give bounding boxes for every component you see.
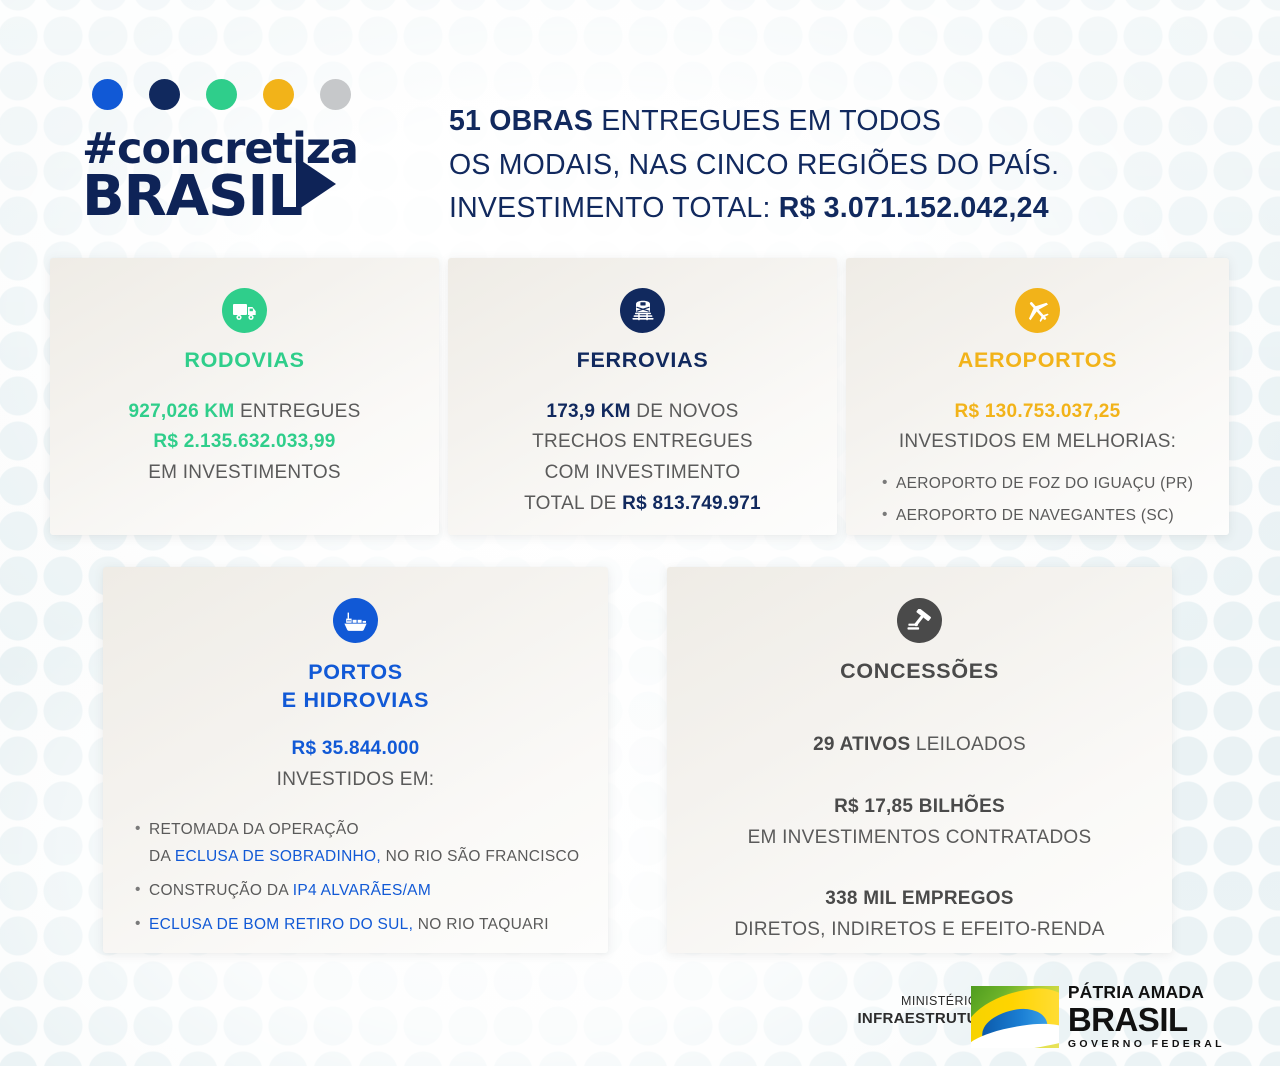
concessoes-ativos-value: 29 ATIVOS [813,734,910,755]
ferrovias-total-value: R$ 813.749.971 [622,493,761,514]
portos-bullet-list: RETOMADA DA OPERAÇÃO DA ECLUSA DE SOBRAD… [135,820,608,937]
aeroportos-investment-value: R$ 130.753.037,25 [846,397,1229,428]
list-item: CONSTRUÇÃO DA IP4 ALVARÃES/AM [135,881,608,902]
list-item-continuation: DA ECLUSA DE SOBRADINHO, NO RIO SÃO FRAN… [135,847,608,868]
aeroportos-bullet-list: AEROPORTO DE FOZ DO IGUAÇU (PR) AEROPORT… [882,474,1229,527]
portos-investment-value: R$ 35.844.000 [103,734,608,765]
dot-navy-icon [149,79,180,110]
headline-line-1: 51 OBRAS ENTREGUES EM TODOS [449,100,1239,144]
rodovias-investment-value: R$ 2.135.632.033,99 [50,427,439,458]
list-item: RETOMADA DA OPERAÇÃO [135,820,608,841]
dot-green-icon [206,79,237,110]
portos-b3-hl: IP4 ALVARÃES/AM [293,882,431,899]
concessoes-stat-1: 29 ATIVOS LEILOADOS [667,730,1172,761]
aeroportos-investment-label: INVESTIDOS EM MELHORIAS: [846,427,1229,458]
portos-b2-hl: ECLUSA DE SOBRADINHO, [175,848,381,865]
card-portos-hidrovias[interactable]: PORTOS E HIDROVIAS R$ 35.844.000 INVESTI… [103,567,608,953]
ferrovias-km-value: 173,9 KM [546,401,630,422]
play-arrow-icon [296,157,336,211]
gov-line-2: BRASIL [1068,1003,1225,1036]
ship-icon [333,598,378,643]
government-logo: PÁTRIA AMADA BRASIL GOVERNO FEDERAL [971,984,1225,1049]
dot-yellow-icon [263,79,294,110]
card-title-ferrovias: FERROVIAS [448,347,837,375]
truck-icon [222,288,267,333]
campaign-logo: #concretiza BRASIL [82,128,412,225]
ferrovias-line-4: TOTAL DE R$ 813.749.971 [448,489,837,520]
footer: MINISTÉRIO DA INFRAESTRUTURA PÁTRIA AMAD… [0,982,1280,1052]
card-title-aeroportos: AEROPORTOS [846,347,1229,375]
rodovias-line-1: 927,026 KM ENTREGUES [50,397,439,428]
concessoes-investimento-value: R$ 17,85 BILHÕES [667,792,1172,823]
card-ferrovias[interactable]: FERROVIAS 173,9 KM DE NOVOS TRECHOS ENTR… [448,258,837,535]
rodovias-km-label: ENTREGUES [234,401,360,422]
card-title-concessoes: CONCESSÕES [667,658,1172,686]
train-icon [620,288,665,333]
portos-b4-post: NO RIO TAQUARI [413,916,549,933]
gov-line-1: PÁTRIA AMADA [1068,984,1225,1002]
card-title-portos: PORTOS E HIDROVIAS [103,659,608,714]
portos-b2-post: NO RIO SÃO FRANCISCO [381,848,579,865]
rodovias-investment-label: EM INVESTIMENTOS [50,458,439,489]
headline-line-3: INVESTIMENTO TOTAL: R$ 3.071.152.042,24 [449,187,1239,231]
concessoes-empregos-label: DIRETOS, INDIRETOS E EFEITO-RENDA [667,915,1172,946]
portos-b2-pre: DA [149,848,175,865]
airplane-icon [1015,288,1060,333]
brand-dots-row [92,79,351,110]
concessoes-ativos-label: LEILOADOS [910,734,1026,755]
card-rodovias[interactable]: RODOVIAS 927,026 KM ENTREGUES R$ 2.135.6… [50,258,439,535]
ferrovias-line-2: TRECHOS ENTREGUES [448,427,837,458]
list-item: AEROPORTO DE NAVEGANTES (SC) [882,506,1229,527]
ferrovias-km-label: DE NOVOS [631,401,739,422]
concessoes-empregos-value: 338 MIL EMPREGOS [667,884,1172,915]
card-title-portos-line2: E HIDROVIAS [103,687,608,715]
brazil-flag-swoosh-icon [971,986,1059,1048]
portos-investment-label: INVESTIDOS EM: [103,765,608,796]
infographic-page: #concretiza BRASIL 51 OBRAS ENTREGUES EM… [0,0,1280,1066]
page-headline: 51 OBRAS ENTREGUES EM TODOS OS MODAIS, N… [449,100,1239,231]
concessoes-investimento-label: EM INVESTIMENTOS CONTRATADOS [667,823,1172,854]
logo-wordmark: BRASIL [82,169,302,225]
portos-b4-hl: ECLUSA DE BOM RETIRO DO SUL, [149,916,413,933]
card-concessoes[interactable]: CONCESSÕES 29 ATIVOS LEILOADOS R$ 17,85 … [667,567,1172,953]
headline-total-value: R$ 3.071.152.042,24 [779,192,1049,224]
dot-blue-icon [92,79,123,110]
portos-b3-pre: CONSTRUÇÃO DA [149,882,293,899]
gov-line-3: GOVERNO FEDERAL [1068,1039,1225,1050]
headline-line-1-rest: ENTREGUES EM TODOS [593,105,941,137]
dot-gray-icon [320,79,351,110]
list-item: AEROPORTO DE FOZ DO IGUAÇU (PR) [882,474,1229,495]
headline-total-label: INVESTIMENTO TOTAL: [449,192,779,224]
card-title-rodovias: RODOVIAS [50,347,439,375]
gavel-icon [897,598,942,643]
headline-obras-count: 51 OBRAS [449,105,593,137]
card-title-portos-line1: PORTOS [103,659,608,687]
ferrovias-line-3: COM INVESTIMENTO [448,458,837,489]
rodovias-km-value: 927,026 KM [128,401,234,422]
government-logo-text: PÁTRIA AMADA BRASIL GOVERNO FEDERAL [1068,984,1225,1049]
ferrovias-total-label: TOTAL DE [524,493,622,514]
card-aeroportos[interactable]: AEROPORTOS R$ 130.753.037,25 INVESTIDOS … [846,258,1229,535]
ferrovias-line-1: 173,9 KM DE NOVOS [448,397,837,428]
portos-b1-pre: RETOMADA DA OPERAÇÃO [149,821,359,838]
list-item: ECLUSA DE BOM RETIRO DO SUL, NO RIO TAQU… [135,915,608,936]
headline-line-2: OS MODAIS, NAS CINCO REGIÕES DO PAÍS. [449,144,1239,188]
